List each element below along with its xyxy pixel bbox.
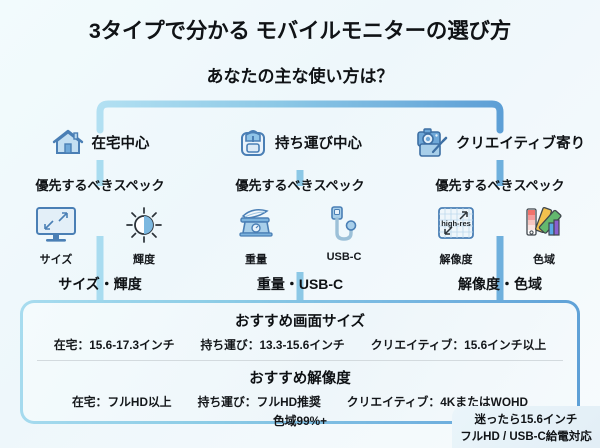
spec-summary: 重量・USB-C: [200, 274, 400, 294]
spec-label: 優先するべきスペック: [0, 175, 200, 194]
res-item-portable: 持ち運び：フルHD推奨: [198, 393, 321, 410]
spec-caption: USB-C: [313, 251, 375, 263]
category-name: 在宅中心: [92, 132, 150, 153]
category-column-home: 在宅中心 優先するべきスペック サイズ: [0, 122, 200, 294]
high-res-grid-icon: high-res: [425, 203, 487, 247]
weight-scale-icon: [225, 203, 287, 247]
size-item-creative: クリエイティブ：15.6インチ以上: [371, 336, 546, 353]
category-header: クリエイティブ寄り: [400, 122, 600, 162]
spec-item-size: サイズ: [25, 203, 87, 267]
size-item-portable: 持ち運び：13.3-15.6インチ: [201, 336, 345, 353]
spec-item-resolution: high-res 解像度: [425, 203, 487, 267]
spec-item-brightness: 輝度: [113, 203, 175, 267]
spec-caption: 色域: [513, 251, 575, 267]
badge-line-2: フルHD / USB-C給電対応: [460, 428, 592, 444]
spec-caption: 重量: [225, 251, 287, 267]
resolution-section-title: おすすめ解像度: [35, 367, 565, 388]
spec-summary: サイズ・輝度: [0, 274, 200, 294]
spec-label: 優先するべきスペック: [400, 175, 600, 194]
summary-badge: 迷ったら15.6インチ フルHD / USB-C給電対応: [452, 406, 600, 448]
category-header: 持ち運び中心: [200, 122, 400, 162]
category-name: クリエイティブ寄り: [456, 132, 585, 153]
screen-size-items: 在宅：15.6-17.3インチ 持ち運び：13.3-15.6インチ クリエイティ…: [35, 336, 565, 353]
house-icon: [51, 127, 85, 157]
spec-caption: サイズ: [25, 251, 87, 267]
category-column-portable: 持ち運び中心 優先するべきスペック 重量: [200, 122, 400, 294]
spec-caption: 輝度: [113, 251, 175, 267]
spec-icon-group: サイズ 輝度: [0, 203, 200, 267]
screen-size-section-title: おすすめ画面サイズ: [35, 310, 565, 331]
spec-item-weight: 重量: [225, 203, 287, 267]
res-item-home: 在宅：フルHD以上: [72, 393, 172, 410]
spec-item-usbc: USB-C: [313, 203, 375, 267]
usb-c-cable-icon: [313, 203, 375, 247]
spec-summary: 解像度・色域: [400, 274, 600, 294]
infographic-root: 3タイプで分かる モバイルモニターの選び方 あなたの主な使い方は？: [0, 0, 600, 448]
size-item-home: 在宅：15.6-17.3インチ: [54, 336, 175, 353]
backpack-icon: [238, 126, 268, 158]
monitor-size-icon: [25, 203, 87, 247]
camera-tablet-icon: [415, 126, 449, 158]
spec-label: 優先するべきスペック: [200, 175, 400, 194]
badge-line-1: 迷ったら15.6インチ: [475, 411, 578, 427]
category-header: 在宅中心: [0, 122, 200, 162]
spec-caption: 解像度: [425, 251, 487, 267]
spec-icon-group: high-res 解像度: [400, 203, 600, 267]
color-palette-icon: [513, 203, 575, 247]
panel-divider: [37, 360, 563, 361]
category-column-creative: クリエイティブ寄り 優先するべきスペック: [400, 122, 600, 294]
brightness-sun-icon: [113, 203, 175, 247]
spec-item-gamut: 色域: [513, 203, 575, 267]
category-name: 持ち運び中心: [275, 132, 362, 153]
spec-icon-group: 重量 USB-C: [200, 203, 400, 267]
high-res-icon-text: high-res: [441, 219, 471, 228]
